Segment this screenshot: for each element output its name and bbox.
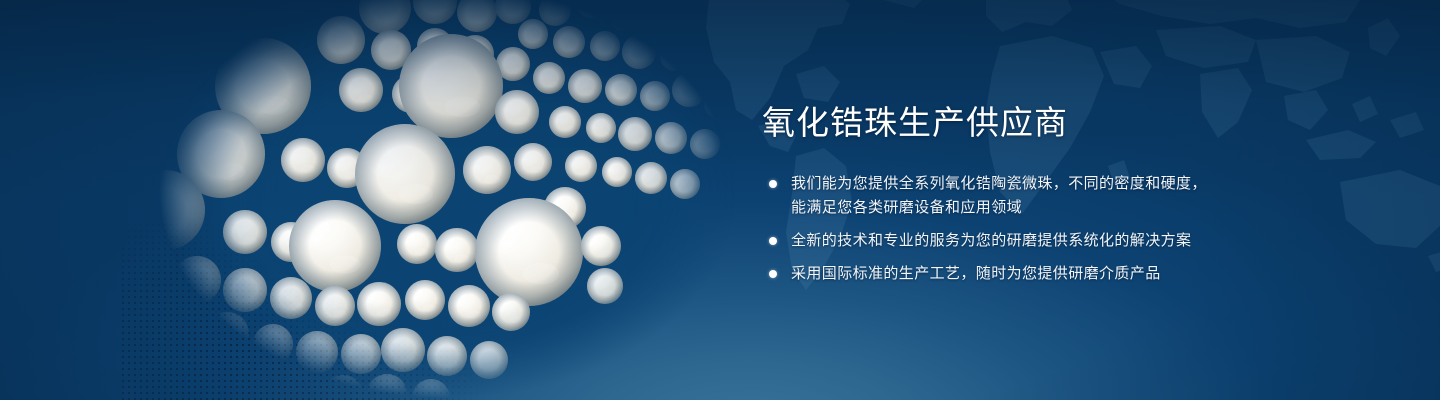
banner-copy: 氧化锆珠生产供应商 我们能为您提供全系列氧化锆陶瓷微珠，不同的密度和硬度， 能满… bbox=[762, 104, 1382, 286]
list-item-line: 我们能为您提供全系列氧化锆陶瓷微珠，不同的密度和硬度， bbox=[791, 172, 1382, 196]
page-title: 氧化锆珠生产供应商 bbox=[762, 104, 1382, 142]
list-item-line: 全新的技术和专业的服务为您的研磨提供系统化的解决方案 bbox=[791, 229, 1382, 253]
bullet-dot-icon bbox=[769, 180, 777, 188]
feature-list: 我们能为您提供全系列氧化锆陶瓷微珠，不同的密度和硬度， 能满足您各类研磨设备和应… bbox=[762, 172, 1382, 286]
list-item: 全新的技术和专业的服务为您的研磨提供系统化的解决方案 bbox=[762, 229, 1382, 253]
list-item-line: 采用国际标准的生产工艺，随时为您提供研磨介质产品 bbox=[791, 262, 1382, 286]
hero-banner: 氧化锆珠生产供应商 我们能为您提供全系列氧化锆陶瓷微珠，不同的密度和硬度， 能满… bbox=[0, 0, 1440, 400]
list-item-line: 能满足您各类研磨设备和应用领域 bbox=[791, 196, 1382, 220]
bullet-dot-icon bbox=[769, 270, 777, 278]
bullet-dot-icon bbox=[769, 237, 777, 245]
list-item: 我们能为您提供全系列氧化锆陶瓷微珠，不同的密度和硬度， 能满足您各类研磨设备和应… bbox=[762, 172, 1382, 220]
list-item: 采用国际标准的生产工艺，随时为您提供研磨介质产品 bbox=[762, 262, 1382, 286]
